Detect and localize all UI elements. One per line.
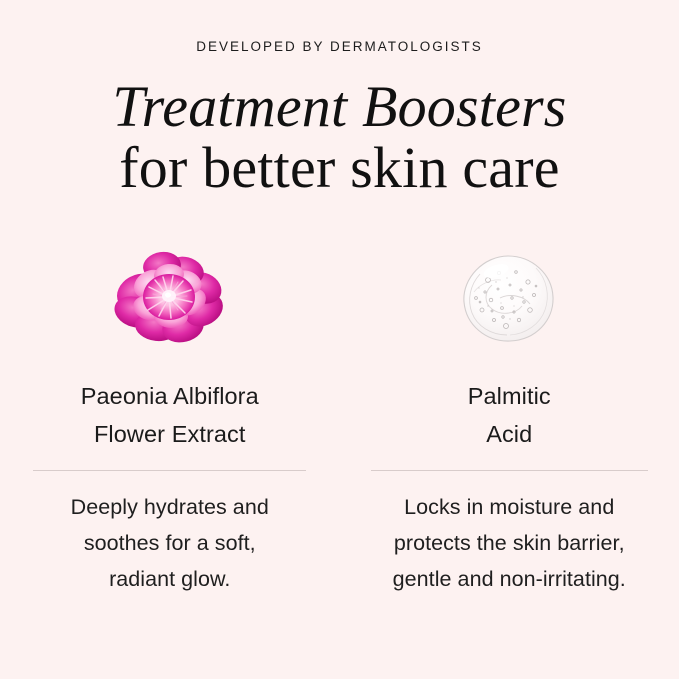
ingredient-description-line-3: gentle and non-irritating. — [393, 561, 626, 597]
ingredient-description: Locks in moisture and protects the skin … — [393, 489, 626, 597]
ingredient-card-peony: Paeonia Albiflora Flower Extract Deeply … — [0, 240, 340, 597]
divider — [371, 470, 648, 471]
divider — [33, 470, 306, 471]
page-title: Treatment Boosters for better skin care — [0, 76, 679, 199]
ingredient-description-line-2: protects the skin barrier, — [393, 525, 626, 561]
header: DEVELOPED BY DERMATOLOGISTS Treatment Bo… — [0, 40, 679, 198]
ingredient-description-line-1: Deeply hydrates and — [71, 489, 269, 525]
ingredient-description: Deeply hydrates and soothes for a soft, … — [71, 489, 269, 597]
page-title-line-2: for better skin care — [0, 137, 679, 198]
ingredient-description-line-2: soothes for a soft, — [71, 525, 269, 561]
ingredient-name: Palmitic Acid — [468, 377, 551, 453]
ingredient-name: Paeonia Albiflora Flower Extract — [81, 377, 259, 453]
peony-flower-image — [105, 240, 235, 360]
ingredient-name-line-1: Paeonia Albiflora — [81, 377, 259, 415]
ingredient-description-line-3: radiant glow. — [71, 561, 269, 597]
ingredient-name-line-1: Palmitic — [468, 377, 551, 415]
eyebrow-text: DEVELOPED BY DERMATOLOGISTS — [0, 40, 679, 54]
ingredient-name-line-2: Flower Extract — [81, 415, 259, 453]
ingredient-name-line-2: Acid — [468, 415, 551, 453]
clear-gel-droplet-image — [444, 240, 574, 360]
ingredient-description-line-1: Locks in moisture and — [393, 489, 626, 525]
ingredient-card-palmitic-acid: Palmitic Acid Locks in moisture and prot… — [340, 240, 679, 597]
ingredient-columns: Paeonia Albiflora Flower Extract Deeply … — [0, 240, 679, 597]
product-ingredient-infographic: DEVELOPED BY DERMATOLOGISTS Treatment Bo… — [0, 0, 679, 679]
page-title-line-1: Treatment Boosters — [0, 76, 679, 137]
